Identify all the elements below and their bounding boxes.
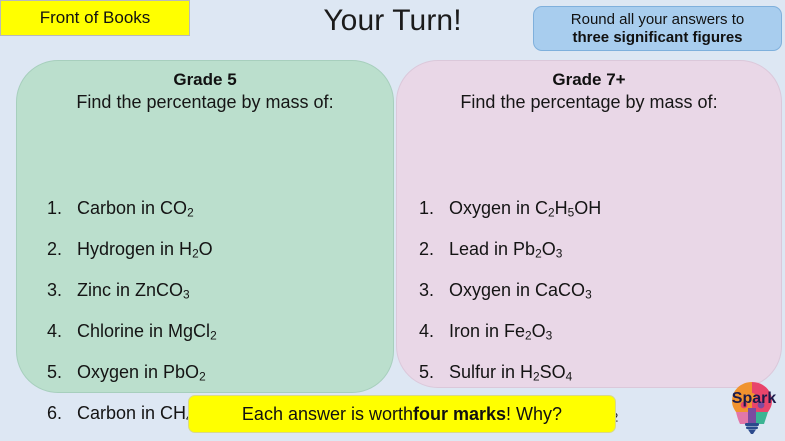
panel-grade-7-plus: Grade 7+ Find the percentage by mass of:… [396, 60, 782, 388]
list-item-formula: Carbon in CH4 [77, 403, 193, 425]
list-item: 1.Oxygen in C2H5OH [419, 188, 618, 229]
list-item-formula: Sulfur in H2SO4 [449, 362, 572, 384]
rounding-note-line-2: three significant figures [572, 29, 742, 46]
list-item-number: 2. [419, 239, 449, 260]
front-of-books-tag: Front of Books [0, 0, 190, 36]
panel-grade-5: Grade 5 Find the percentage by mass of: … [16, 60, 394, 393]
page-title: Your Turn! [250, 4, 535, 38]
list-item-number: 1. [419, 198, 449, 219]
lightbulb-puzzle-icon [722, 378, 782, 436]
list-item-formula: Lead in Pb2O3 [449, 239, 562, 261]
front-of-books-label: Front of Books [40, 8, 151, 28]
list-item: 5.Oxygen in PbO2 [47, 352, 217, 393]
list-item-formula: Hydrogen in H2O [77, 239, 213, 261]
marks-banner-bold: four marks [413, 404, 506, 425]
list-item-formula: Oxygen in PbO2 [77, 362, 206, 384]
list-item: 2.Hydrogen in H2O [47, 229, 217, 270]
list-item-number: 1. [47, 198, 77, 219]
list-item: 4.Chlorine in MgCl2 [47, 311, 217, 352]
list-item-formula: Oxygen in CaCO3 [449, 280, 592, 302]
list-item: 2.Lead in Pb2O3 [419, 229, 618, 270]
list-item-number: 4. [419, 321, 449, 342]
list-item-formula: Zinc in ZnCO3 [77, 280, 190, 302]
list-item-number: 5. [47, 362, 77, 383]
marks-banner: Each answer is worth four marks! Why? [188, 395, 616, 433]
spark-logo [722, 378, 782, 436]
list-item-number: 6. [47, 403, 77, 424]
panel-grade-7-plus-heading: Grade 7+ [397, 70, 781, 90]
list-item-number: 3. [47, 280, 77, 301]
list-item-number: 4. [47, 321, 77, 342]
list-item-number: 3. [419, 280, 449, 301]
panel-grade-5-heading: Grade 5 [17, 70, 393, 90]
list-item-formula: Oxygen in C2H5OH [449, 198, 601, 220]
list-item: 5.Sulfur in H2SO4 [419, 352, 618, 393]
marks-banner-suffix: ! Why? [506, 404, 562, 425]
list-item-formula: Chlorine in MgCl2 [77, 321, 217, 343]
list-item-number: 2. [47, 239, 77, 260]
list-item: 3.Oxygen in CaCO3 [419, 270, 618, 311]
list-item: 1.Carbon in CO2 [47, 188, 217, 229]
list-item-number: 5. [419, 362, 449, 383]
rounding-instruction-note: Round all your answers to three signific… [533, 6, 782, 51]
marks-banner-prefix: Each answer is worth [242, 404, 413, 425]
list-item-formula: Iron in Fe2O3 [449, 321, 552, 343]
panel-grade-7-plus-subheading: Find the percentage by mass of: [397, 92, 781, 113]
rounding-note-line-1: Round all your answers to [571, 11, 744, 28]
list-item: 4.Iron in Fe2O3 [419, 311, 618, 352]
panel-grade-5-subheading: Find the percentage by mass of: [17, 92, 393, 113]
list-item: 3.Zinc in ZnCO3 [47, 270, 217, 311]
list-item-formula: Carbon in CO2 [77, 198, 194, 220]
